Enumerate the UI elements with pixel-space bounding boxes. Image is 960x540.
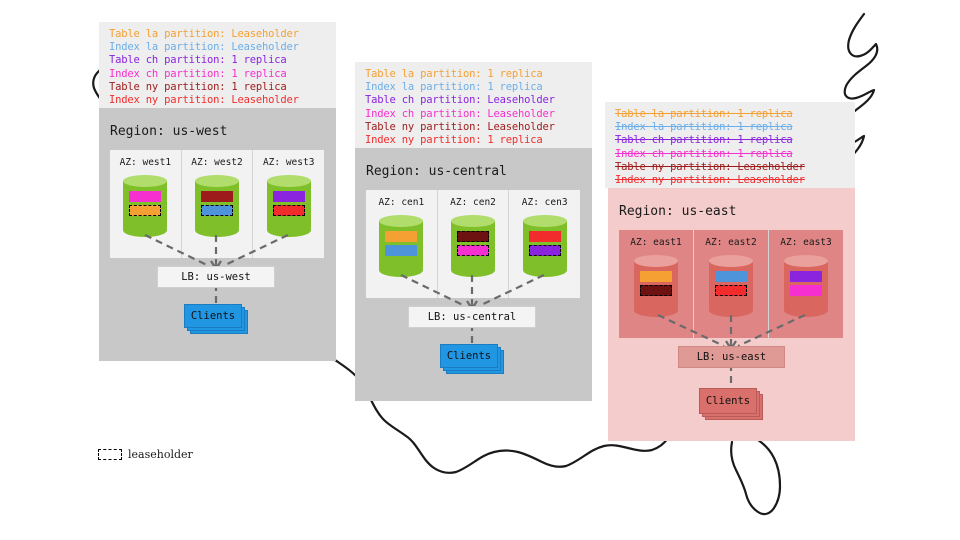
legend-line: Index ch partition: Leaseholder: [365, 108, 584, 121]
legend-line: Index ny partition: 1 replica: [365, 134, 584, 147]
legend-line: Table la partition: 1 replica: [615, 108, 847, 121]
leaseholder-legend-label: leaseholder: [128, 448, 193, 461]
partition-legend-us-west: Table la partition: Leaseholder Index la…: [99, 22, 336, 108]
legend-line: Table ny partition: Leaseholder: [615, 161, 847, 174]
legend-line: Index la partition: Leaseholder: [109, 41, 328, 54]
lb-box-us-west[interactable]: LB: us-west: [157, 266, 275, 288]
legend-line: Table la partition: Leaseholder: [109, 28, 328, 41]
region-panel-us-central[interactable]: Region: us-central AZ: cen1 AZ: cen2: [355, 148, 592, 401]
partition-legend-us-east: Table la partition: 1 replica Index la p…: [605, 102, 855, 188]
legend-line: Index ny partition: Leaseholder: [615, 174, 847, 187]
clients-stack-us-east: Clients: [699, 388, 769, 420]
map-florida-path: [731, 440, 780, 514]
legend-line: Table ny partition: 1 replica: [109, 81, 328, 94]
legend-line: Table ny partition: Leaseholder: [365, 121, 584, 134]
legend-line: Index ch partition: 1 replica: [615, 148, 847, 161]
legend-line: Table la partition: 1 replica: [365, 68, 584, 81]
leaseholder-legend-key: leaseholder: [98, 448, 193, 461]
clients-box-us-central[interactable]: Clients: [440, 344, 498, 368]
legend-line: Table ch partition: 1 replica: [615, 134, 847, 147]
legend-line: Index ny partition: Leaseholder: [109, 94, 328, 107]
legend-line: Index la partition: 1 replica: [365, 81, 584, 94]
clients-stack-us-west: Clients: [184, 304, 254, 336]
region-panel-us-west[interactable]: Region: us-west AZ: west1 AZ: west2: [99, 108, 336, 361]
clients-box-us-east[interactable]: Clients: [699, 388, 757, 414]
legend-line: Table ch partition: Leaseholder: [365, 94, 584, 107]
clients-box-us-west[interactable]: Clients: [184, 304, 242, 328]
partition-legend-us-central: Table la partition: 1 replica Index la p…: [355, 62, 592, 148]
legend-line: Index ch partition: 1 replica: [109, 68, 328, 81]
clients-stack-us-central: Clients: [440, 344, 510, 376]
legend-line: Index la partition: 1 replica: [615, 121, 847, 134]
legend-line: Table ch partition: 1 replica: [109, 54, 328, 67]
region-panel-us-east[interactable]: Region: us-east AZ: east1 AZ: east2: [608, 188, 855, 441]
dashed-rect-icon: [98, 449, 122, 460]
lb-box-us-east[interactable]: LB: us-east: [678, 346, 785, 368]
lb-box-us-central[interactable]: LB: us-central: [408, 306, 536, 328]
